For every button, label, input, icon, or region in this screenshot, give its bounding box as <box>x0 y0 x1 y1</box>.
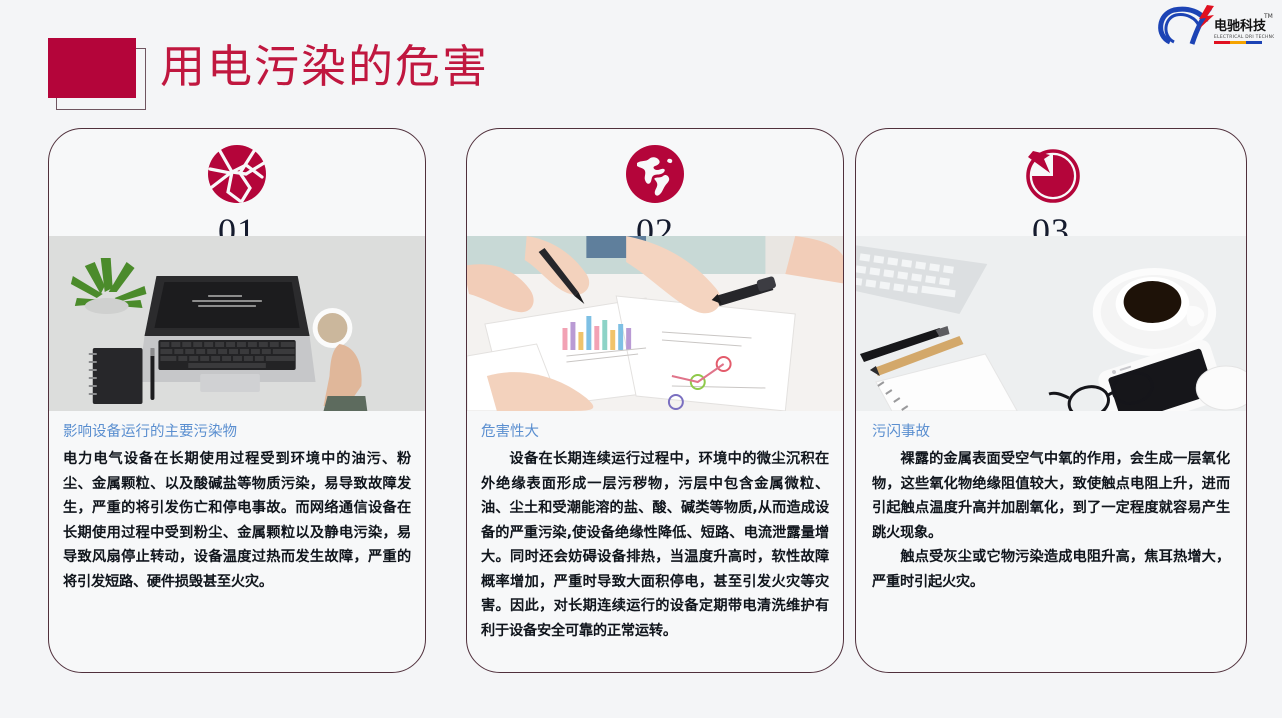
card-3-body: 污闪事故 裸露的金属表面受空气中氧的作用，会生成一层氧化物，这些氧化物绝缘阻值较… <box>856 421 1246 594</box>
slide-root: 电驰科技 ELECTRICAL DRI TECHNOLOGY TM 用电污染的危… <box>0 0 1282 718</box>
globe-icon <box>624 143 686 210</box>
card-2-body: 危害性大 设备在长期连续运行过程中，环境中的微尘沉积在外绝缘表面形成一层污秽物，… <box>467 421 843 643</box>
card-3-paragraph-2: 触点受灰尘或它物污染造成电阻升高，焦耳热增大，严重时引起火灾。 <box>872 545 1230 594</box>
logo-graphic: 电驰科技 ELECTRICAL DRI TECHNOLOGY TM <box>1152 2 1274 50</box>
card-2-heading: 危害性大 <box>481 421 829 443</box>
svg-text:电驰科技: 电驰科技 <box>1214 18 1267 34</box>
pie-chart-icon <box>1020 143 1082 210</box>
card-1-photo <box>49 236 425 411</box>
page-title: 用电污染的危害 <box>160 36 489 98</box>
info-card-3: 03 <box>855 128 1247 673</box>
info-card-1: 01 <box>48 128 426 673</box>
card-1-body: 影响设备运行的主要污染物 电力电气设备在长期使用过程受到环境中的油污、粉尘、金属… <box>49 421 425 594</box>
card-3-heading: 污闪事故 <box>872 421 1230 443</box>
card-3-paragraph-1: 裸露的金属表面受空气中氧的作用，会生成一层氧化物，这些氧化物绝缘阻值较大，致使触… <box>872 447 1230 545</box>
svg-text:TM: TM <box>1263 13 1273 20</box>
card-2-photo <box>467 236 843 411</box>
card-2-icon-area <box>467 143 843 209</box>
card-1-paragraph: 电力电气设备在长期使用过程受到环境中的油污、粉尘、金属颗粒、以及酸碱盐等物质污染… <box>63 447 411 594</box>
card-3-photo <box>856 236 1246 411</box>
svg-text:ELECTRICAL DRI TECHNOLOGY: ELECTRICAL DRI TECHNOLOGY <box>1214 34 1274 40</box>
card-1-heading: 影响设备运行的主要污染物 <box>63 421 411 443</box>
info-card-2: 02 <box>466 128 844 673</box>
card-1-icon-area <box>49 143 425 209</box>
title-square-fill <box>48 38 136 98</box>
card-3-icon-area <box>856 143 1246 209</box>
card-2-paragraph: 设备在长期连续运行过程中，环境中的微尘沉积在外绝缘表面形成一层污秽物，污层中包含… <box>481 447 829 643</box>
company-logo: 电驰科技 ELECTRICAL DRI TECHNOLOGY TM <box>1152 2 1274 50</box>
cracked-sphere-icon <box>206 143 268 210</box>
